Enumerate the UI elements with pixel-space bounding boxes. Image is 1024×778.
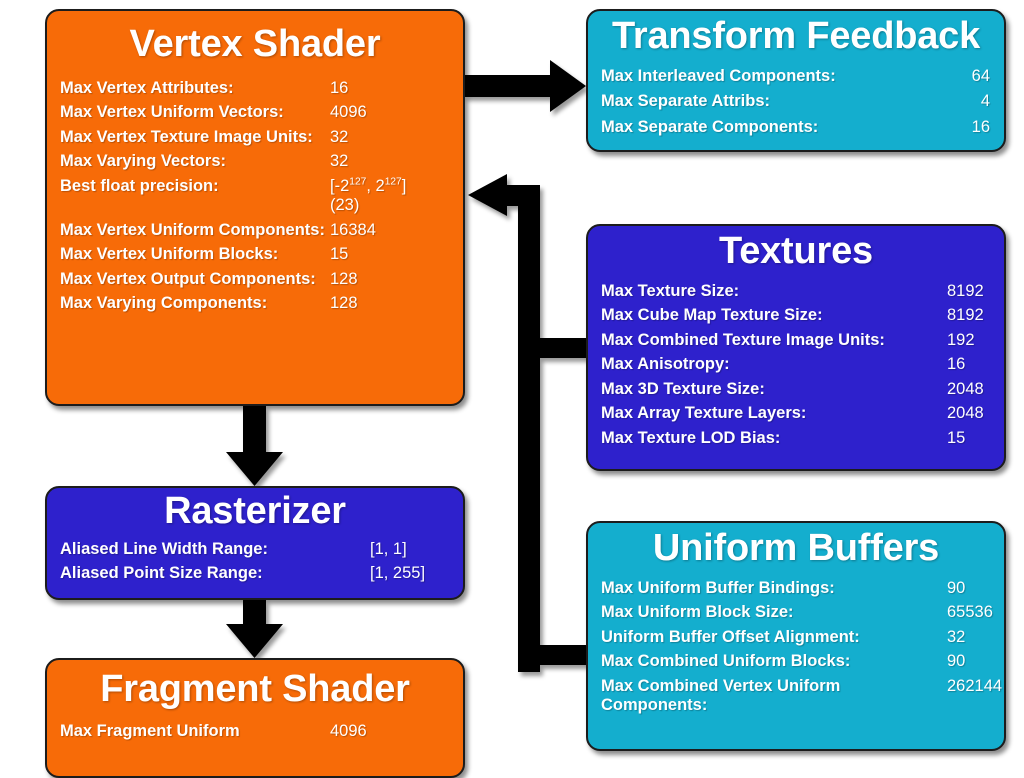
rows-uniform-buffers: Max Uniform Buffer Bindings: 90 Max Unif… [588, 579, 1004, 716]
table-row: Max Uniform Buffer Bindings: 90 [588, 579, 1004, 598]
row-label: Best float precision: [60, 177, 330, 196]
table-row: Best float precision: [-2127, 2127](23) [47, 177, 463, 216]
row-value: 192 [947, 331, 975, 350]
row-value: 16 [330, 79, 348, 98]
card-rasterizer: Rasterizer Aliased Line Width Range: [1,… [45, 486, 465, 600]
arrow-rasterizer-to-fragment [226, 600, 283, 658]
arrow-resources-to-vertex-shader [470, 183, 540, 672]
trunk-top-elbow [500, 185, 540, 206]
card-transform-feedback: Transform Feedback Max Interleaved Compo… [586, 9, 1006, 152]
row-label: Max Vertex Uniform Components: [60, 221, 330, 240]
table-row: Max Cube Map Texture Size: 8192 [588, 306, 1004, 325]
row-value: [1, 1] [370, 540, 407, 559]
row-label: Max Vertex Attributes: [60, 79, 330, 98]
rows-vertex-shader: Max Vertex Attributes: 16 Max Vertex Uni… [47, 79, 463, 314]
arrowhead-left-into-vertex-shader [468, 174, 507, 216]
row-label: Max Varying Components: [60, 294, 330, 313]
table-row: Max Separate Attribs: 4 [588, 92, 1004, 111]
row-value: 15 [330, 245, 348, 264]
row-value: 32 [330, 152, 348, 171]
table-row: Aliased Point Size Range: [1, 255] [47, 564, 463, 583]
table-row: Max Fragment Uniform 4096 [47, 722, 463, 741]
table-row: Aliased Line Width Range: [1, 1] [47, 540, 463, 559]
row-value: 32 [330, 128, 348, 147]
row-label: Max Array Texture Layers: [601, 404, 947, 423]
row-value: 15 [947, 429, 965, 448]
card-title-rasterizer: Rasterizer [47, 492, 463, 532]
row-value: 128 [330, 294, 358, 313]
row-label: Max Fragment Uniform [60, 722, 330, 741]
table-row: Max Vertex Texture Image Units: 32 [47, 128, 463, 147]
row-value: 8192 [947, 282, 984, 301]
row-label: Max 3D Texture Size: [601, 380, 947, 399]
table-row: Uniform Buffer Offset Alignment: 32 [588, 628, 1004, 647]
row-label: Max Texture LOD Bias: [601, 429, 947, 448]
row-value: 32 [947, 628, 965, 647]
card-uniform-buffers: Uniform Buffers Max Uniform Buffer Bindi… [586, 521, 1006, 751]
table-row: Max Uniform Block Size: 65536 [588, 603, 1004, 622]
row-label: Max Separate Components: [601, 118, 972, 137]
card-vertex-shader: Vertex Shader Max Vertex Attributes: 16 … [45, 9, 465, 406]
rows-transform-feedback: Max Interleaved Components: 64 Max Separ… [588, 67, 1004, 137]
row-label: Max Vertex Output Components: [60, 270, 330, 289]
row-value: 262144 [947, 677, 1002, 696]
row-label: Max Texture Size: [601, 282, 947, 301]
table-row: Max Vertex Uniform Blocks: 15 [47, 245, 463, 264]
row-value: 16 [947, 355, 965, 374]
table-row: Max Varying Vectors: 32 [47, 152, 463, 171]
row-label: Max Uniform Buffer Bindings: [601, 579, 947, 598]
table-row: Max Vertex Uniform Components: 16384 [47, 221, 463, 240]
card-title-vertex-shader: Vertex Shader [47, 25, 463, 65]
rows-textures: Max Texture Size: 8192 Max Cube Map Text… [588, 282, 1004, 448]
row-value: 4096 [330, 103, 367, 122]
row-label: Max Uniform Block Size: [601, 603, 947, 622]
row-label: Uniform Buffer Offset Alignment: [601, 628, 947, 647]
row-label: Aliased Line Width Range: [60, 540, 370, 559]
row-value: 64 [972, 67, 990, 86]
table-row: Max Combined Vertex Uniform Components: … [588, 677, 1004, 716]
table-row: Max 3D Texture Size: 2048 [588, 380, 1004, 399]
row-label: Max Vertex Texture Image Units: [60, 128, 330, 147]
table-row: Max Texture LOD Bias: 15 [588, 429, 1004, 448]
row-value: 2048 [947, 380, 984, 399]
row-label: Max Combined Texture Image Units: [601, 331, 947, 350]
table-row: Max Vertex Uniform Vectors: 4096 [47, 103, 463, 122]
branch-to-textures [538, 338, 590, 358]
table-row: Max Varying Components: 128 [47, 294, 463, 313]
table-row: Max Vertex Output Components: 128 [47, 270, 463, 289]
rows-rasterizer: Aliased Line Width Range: [1, 1] Aliased… [47, 540, 463, 584]
arrow-vertex-to-rasterizer [226, 406, 283, 486]
table-row: Max Texture Size: 8192 [588, 282, 1004, 301]
table-row: Max Separate Components: 16 [588, 118, 1004, 137]
row-label: Aliased Point Size Range: [60, 564, 370, 583]
card-title-transform-feedback: Transform Feedback [588, 17, 1004, 57]
row-value: 16384 [330, 221, 376, 240]
row-value: 4096 [330, 722, 367, 741]
row-value: 4 [981, 92, 990, 111]
row-label: Max Vertex Uniform Vectors: [60, 103, 330, 122]
row-value: 128 [330, 270, 358, 289]
row-label: Max Combined Uniform Blocks: [601, 652, 947, 671]
row-label: Max Cube Map Texture Size: [601, 306, 947, 325]
row-value: 2048 [947, 404, 984, 423]
row-label: Max Separate Attribs: [601, 92, 981, 111]
row-label: Max Vertex Uniform Blocks: [60, 245, 330, 264]
table-row: Max Vertex Attributes: 16 [47, 79, 463, 98]
table-row: Max Anisotropy: 16 [588, 355, 1004, 374]
row-label: Max Interleaved Components: [601, 67, 972, 86]
branch-to-uniform-buffers [538, 645, 590, 665]
row-value: 65536 [947, 603, 993, 622]
rows-fragment-shader: Max Fragment Uniform 4096 [47, 722, 463, 741]
row-value: 8192 [947, 306, 984, 325]
card-fragment-shader: Fragment Shader Max Fragment Uniform 409… [45, 658, 465, 778]
card-title-uniform-buffers: Uniform Buffers [588, 529, 1004, 569]
row-label: Max Combined Vertex Uniform Components: [601, 677, 947, 716]
row-value: [1, 255] [370, 564, 425, 583]
card-title-fragment-shader: Fragment Shader [47, 670, 463, 710]
row-label: Max Anisotropy: [601, 355, 947, 374]
table-row: Max Array Texture Layers: 2048 [588, 404, 1004, 423]
table-row: Max Combined Uniform Blocks: 90 [588, 652, 1004, 671]
row-label: Max Varying Vectors: [60, 152, 330, 171]
row-value: [-2127, 2127](23) [330, 177, 406, 216]
table-row: Max Combined Texture Image Units: 192 [588, 331, 1004, 350]
row-value: 90 [947, 579, 965, 598]
card-textures: Textures Max Texture Size: 8192 Max Cube… [586, 224, 1006, 471]
row-value: 16 [972, 118, 990, 137]
arrow-vertex-to-transform-feedback [464, 60, 586, 112]
diagram-canvas: Vertex Shader Max Vertex Attributes: 16 … [0, 0, 1024, 737]
row-value: 90 [947, 652, 965, 671]
card-title-textures: Textures [588, 232, 1004, 272]
table-row: Max Interleaved Components: 64 [588, 67, 1004, 86]
